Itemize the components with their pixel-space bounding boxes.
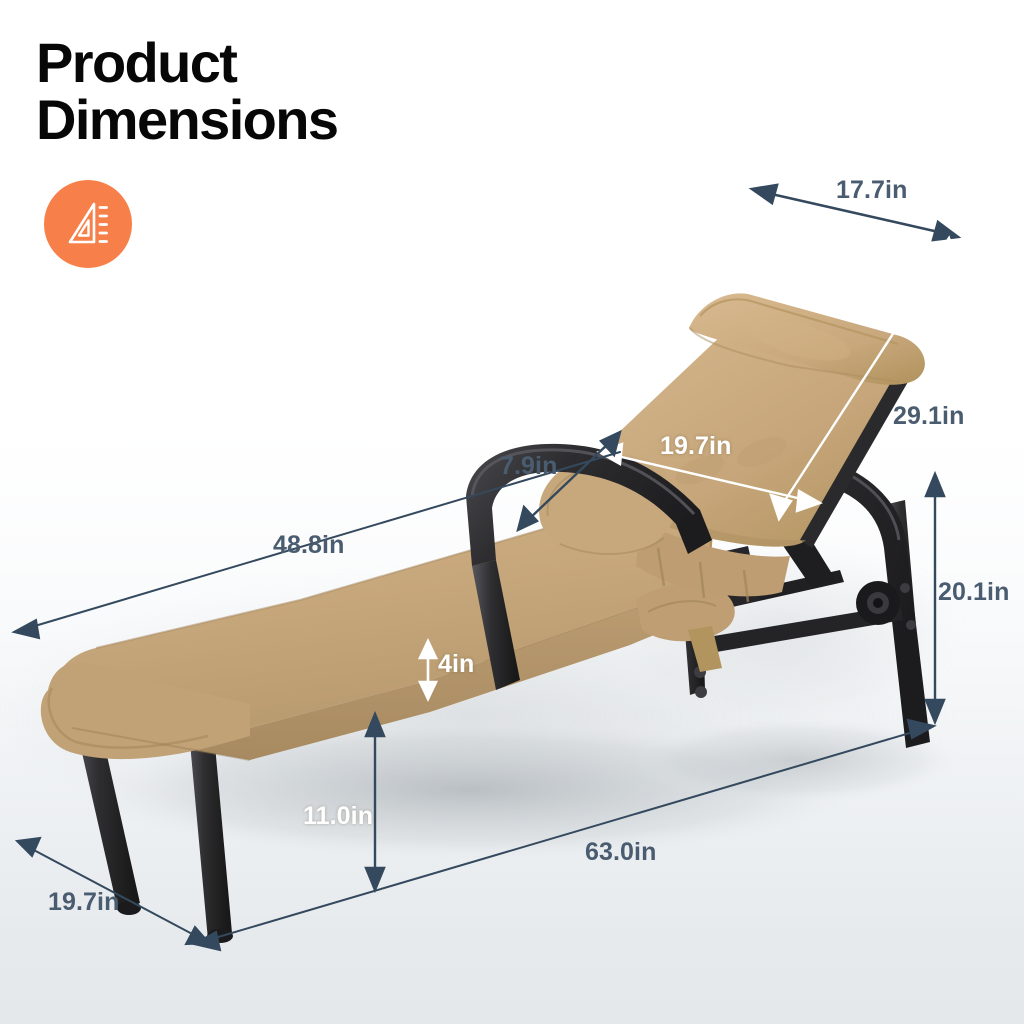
dimension-label-backrest-width: 17.7in: [836, 176, 907, 205]
dimension-label-seat-depth: 19.7in: [660, 432, 731, 461]
floor-reflection-secondary: [620, 520, 1024, 740]
dimension-label-seat-height: 11.0in: [303, 802, 373, 831]
product-dimensions-infographic: Product Dimensions: [0, 0, 1024, 1024]
set-square-ruler-icon: [62, 198, 114, 250]
dimension-label-armrest-height: 7.9in: [500, 452, 557, 481]
dimension-label-overall-width: 19.7in: [48, 888, 119, 917]
dimension-label-overall-length: 63.0in: [585, 838, 656, 867]
dimension-label-cushion-thickness: 4in: [438, 650, 474, 679]
dimension-label-backrest-height: 29.1in: [893, 402, 964, 431]
dimension-label-seat-length: 48.8in: [273, 531, 344, 560]
background-gradient: [0, 0, 1024, 1024]
set-square-ruler-icon-badge: [44, 180, 132, 268]
dimension-label-armrest-floor-height: 20.1in: [938, 578, 1009, 607]
page-title: Product Dimensions: [36, 34, 337, 148]
